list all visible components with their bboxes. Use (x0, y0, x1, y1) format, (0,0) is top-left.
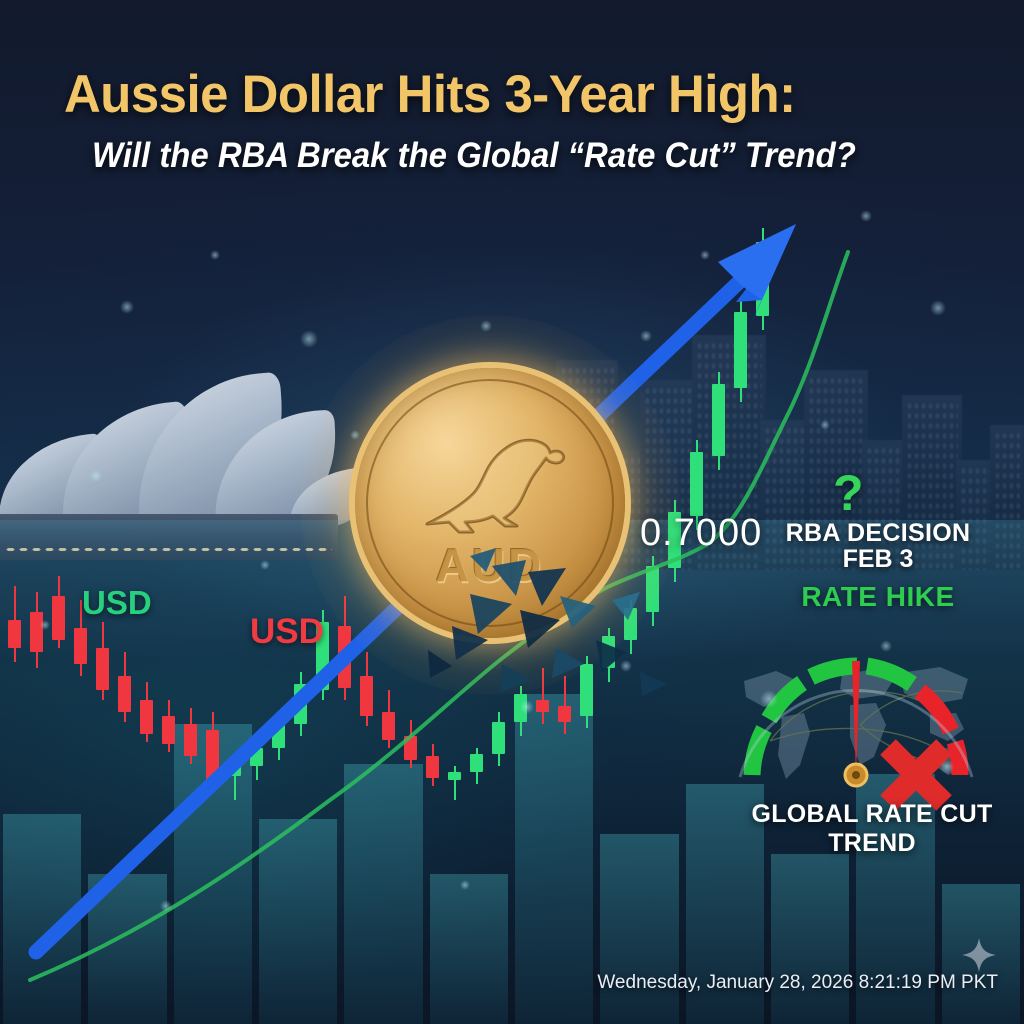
page-title: Aussie Dollar Hits 3-Year High: (64, 64, 928, 125)
infographic-canvas: AUD Aussie Dollar Hits 3-Year High: Will… (0, 0, 1024, 1024)
red-x-icon (888, 747, 944, 803)
sparkle-icon (962, 938, 996, 972)
question-mark-icon: ? (833, 464, 864, 522)
usd-label-green: USD (82, 584, 152, 622)
gauge-needle (845, 661, 867, 786)
timestamp: Wednesday, January 28, 2026 8:21:19 PM P… (597, 972, 998, 994)
rba-decision-label: RBA DECISION (778, 519, 978, 548)
rate-hike-label: RATE HIKE (768, 581, 988, 613)
page-subtitle: Will the RBA Break the Global “Rate Cut”… (92, 136, 938, 176)
global-rate-cut-label: GLOBAL RATE CUT TREND (712, 800, 1024, 858)
rate-gauge (716, 625, 1006, 815)
usd-label-red: USD (250, 612, 324, 652)
rba-decision-date: FEB 3 (778, 545, 978, 574)
price-level-label: 0.7000 (640, 512, 762, 555)
